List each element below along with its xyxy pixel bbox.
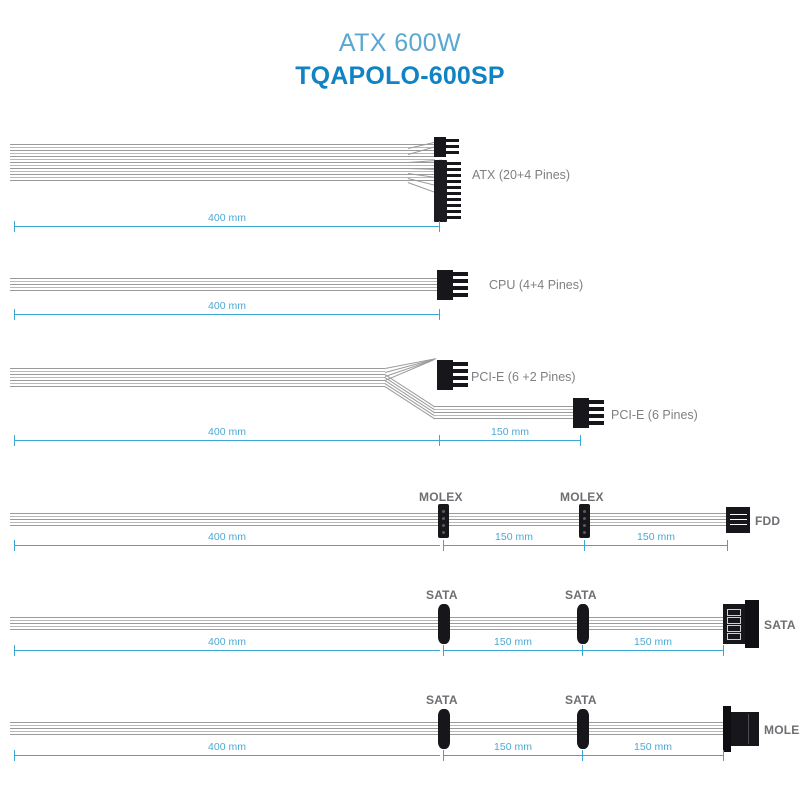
- product-line-title: ATX 600W: [0, 28, 800, 58]
- sata-inline-label-2: SATA: [565, 588, 597, 602]
- pcie-dimension-tick-start: [14, 435, 15, 446]
- molex-inline-label-1: MOLEX: [419, 490, 463, 504]
- satamolex-dimension-label-2: 150 mm: [438, 741, 588, 753]
- sata-dimension-label-1: 400 mm: [152, 636, 302, 648]
- molexfdd-dimension-line-1: [14, 545, 440, 546]
- sata-dimension-line-1: [14, 650, 440, 651]
- sata-dimension-label-2: 150 mm: [438, 636, 588, 648]
- atx-dimension-label: 400 mm: [152, 212, 302, 224]
- molexfdd-dimension-line-2: [443, 545, 585, 546]
- atx-dimension-line: [14, 226, 440, 227]
- satamolex-dimension-line-1: [14, 755, 440, 756]
- fdd-end-label: FDD: [755, 514, 780, 528]
- molexfdd-dimension-label-3: 150 mm: [581, 531, 731, 543]
- satamolex-dimension-tick-start: [14, 750, 15, 761]
- cpu-dimension-line: [14, 314, 440, 315]
- satamolex-inline-connector-2: [0, 0, 8, 3]
- satamolex-dimension-label-1: 400 mm: [152, 741, 302, 753]
- atx-dimension-tick-start: [14, 221, 15, 232]
- pcie-dimension-label-1: 400 mm: [152, 426, 302, 438]
- pcie-6pin-connector-label: PCI-E (6 Pines): [611, 408, 698, 422]
- sata-dimension-line-3: [582, 650, 724, 651]
- molexfdd-dimension-line-3: [584, 545, 728, 546]
- molexfdd-dimension-label-2: 150 mm: [439, 531, 589, 543]
- atx-dimension-tick-end: [439, 221, 440, 232]
- cpu-dimension-tick-end: [439, 309, 440, 320]
- pcie-dimension-line-1: [14, 440, 440, 441]
- sata-dimension-tick-start: [14, 645, 15, 656]
- pcie-6plus2-connector-label: PCI-E (6 +2 Pines): [471, 370, 576, 384]
- molexfdd-dimension-tick-start: [14, 540, 15, 551]
- satamolex-inline-label-1: SATA: [426, 693, 458, 707]
- atx-connector-label: ATX (20+4 Pines): [472, 168, 570, 182]
- satamolex-dimension-label-3: 150 mm: [578, 741, 728, 753]
- molexfdd-dimension-label-1: 400 mm: [152, 531, 302, 543]
- pcie-dimension-label-2: 150 mm: [435, 426, 585, 438]
- sata-inline-label-1: SATA: [426, 588, 458, 602]
- product-model-title: TQAPOLO-600SP: [0, 60, 800, 92]
- sata-end-label: SATA: [764, 618, 796, 632]
- satamolex-dimension-line-2: [443, 755, 583, 756]
- satamolex-dimension-line-3: [582, 755, 724, 756]
- pcie-dimension-line-2: [439, 440, 581, 441]
- satamolex-inline-label-2: SATA: [565, 693, 597, 707]
- diagram-header: ATX 600W TQAPOLO-600SP: [0, 28, 800, 92]
- molex-inline-label-2: MOLEX: [560, 490, 604, 504]
- sata-dimension-label-3: 150 mm: [578, 636, 728, 648]
- sata-dimension-line-2: [443, 650, 583, 651]
- molex-end-label: MOLEX: [764, 723, 800, 737]
- cpu-dimension-label: 400 mm: [152, 300, 302, 312]
- cable-layout-diagram: ATX 600W TQAPOLO-600SP: [0, 0, 800, 800]
- cpu-dimension-tick-start: [14, 309, 15, 320]
- cpu-connector-label: CPU (4+4 Pines): [489, 278, 583, 292]
